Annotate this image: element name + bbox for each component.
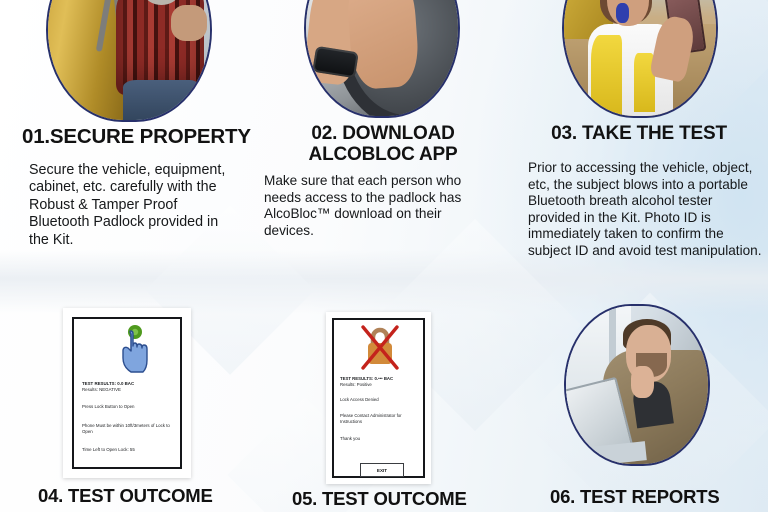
step-05-mockup-card: TEST RESULTS: 0.••• BAC Results: Positiv…: [326, 312, 431, 484]
step-05-title: 05. TEST OUTCOME: [292, 488, 502, 510]
step-04-title: 04. TEST OUTCOME: [38, 485, 248, 507]
photo-reports-laptop-image: [566, 306, 708, 464]
step-card-01: 01.SECURE PROPERTY Secure the vehicle, e…: [0, 0, 252, 258]
hand-tap-icon: [118, 325, 152, 375]
pass-result-line-1: TEST RESULTS: 0.0 BAC: [82, 381, 182, 387]
phone-screen-pass: TEST RESULTS: 0.0 BAC Results: NEGATIVE …: [72, 317, 182, 469]
photo-phone-in-car-image: [306, 0, 458, 116]
pass-result-line-2: Results: NEGATIVE: [82, 387, 182, 393]
step-01-photo: [46, 0, 212, 122]
step-03-photo: [562, 0, 718, 118]
step-card-05: TEST RESULTS: 0.••• BAC Results: Positiv…: [252, 300, 504, 512]
pass-timer-line: Time Left to Open Lock: 55: [82, 447, 182, 453]
pass-instruction-range: Phone Must be within 10ft/3meters of Loc…: [82, 423, 180, 435]
step-card-03: 03. TAKE THE TEST Prior to accessing the…: [504, 0, 768, 268]
step-card-06: 06. TEST REPORTS: [504, 300, 768, 512]
step-06-title: 06. TEST REPORTS: [550, 486, 765, 508]
step-01-body: Secure the vehicle, equipment, cabinet, …: [29, 162, 234, 249]
photo-operator-image: [48, 0, 210, 120]
step-06-photo: [564, 304, 710, 466]
fail-result-line-2: Results: Positive: [340, 382, 426, 388]
step-card-02: 02. DOWNLOAD ALCOBLOC APP Make sure that…: [252, 0, 504, 258]
photo-breathalyzer-image: [564, 0, 716, 116]
locked-padlock-denied-icon: [359, 324, 401, 372]
exit-button[interactable]: EXIT: [360, 463, 404, 477]
fail-access-denied: Lock Access Denied: [340, 397, 426, 403]
fail-contact-admin: Please Contact Administrator for Instruc…: [340, 413, 424, 424]
step-02-photo: [304, 0, 460, 118]
pass-instruction-press-lock: Press Lock Button to Open: [82, 404, 182, 410]
fail-result-line-1: TEST RESULTS: 0.••• BAC: [340, 376, 426, 382]
step-02-title: 02. DOWNLOAD ALCOBLOC APP: [288, 123, 478, 166]
step-04-mockup-card: TEST RESULTS: 0.0 BAC Results: NEGATIVE …: [63, 308, 191, 478]
step-02-body: Make sure that each person who needs acc…: [264, 173, 480, 239]
infographic-page: 01.SECURE PROPERTY Secure the vehicle, e…: [0, 0, 768, 512]
step-03-title: 03. TAKE THE TEST: [532, 123, 746, 144]
step-card-04: TEST RESULTS: 0.0 BAC Results: NEGATIVE …: [0, 300, 252, 512]
step-03-body: Prior to accessing the vehicle, object, …: [528, 160, 768, 259]
step-01-title: 01.SECURE PROPERTY: [22, 126, 258, 149]
fail-thank-you: Thank you: [340, 436, 426, 442]
phone-screen-fail: TEST RESULTS: 0.••• BAC Results: Positiv…: [332, 318, 425, 478]
